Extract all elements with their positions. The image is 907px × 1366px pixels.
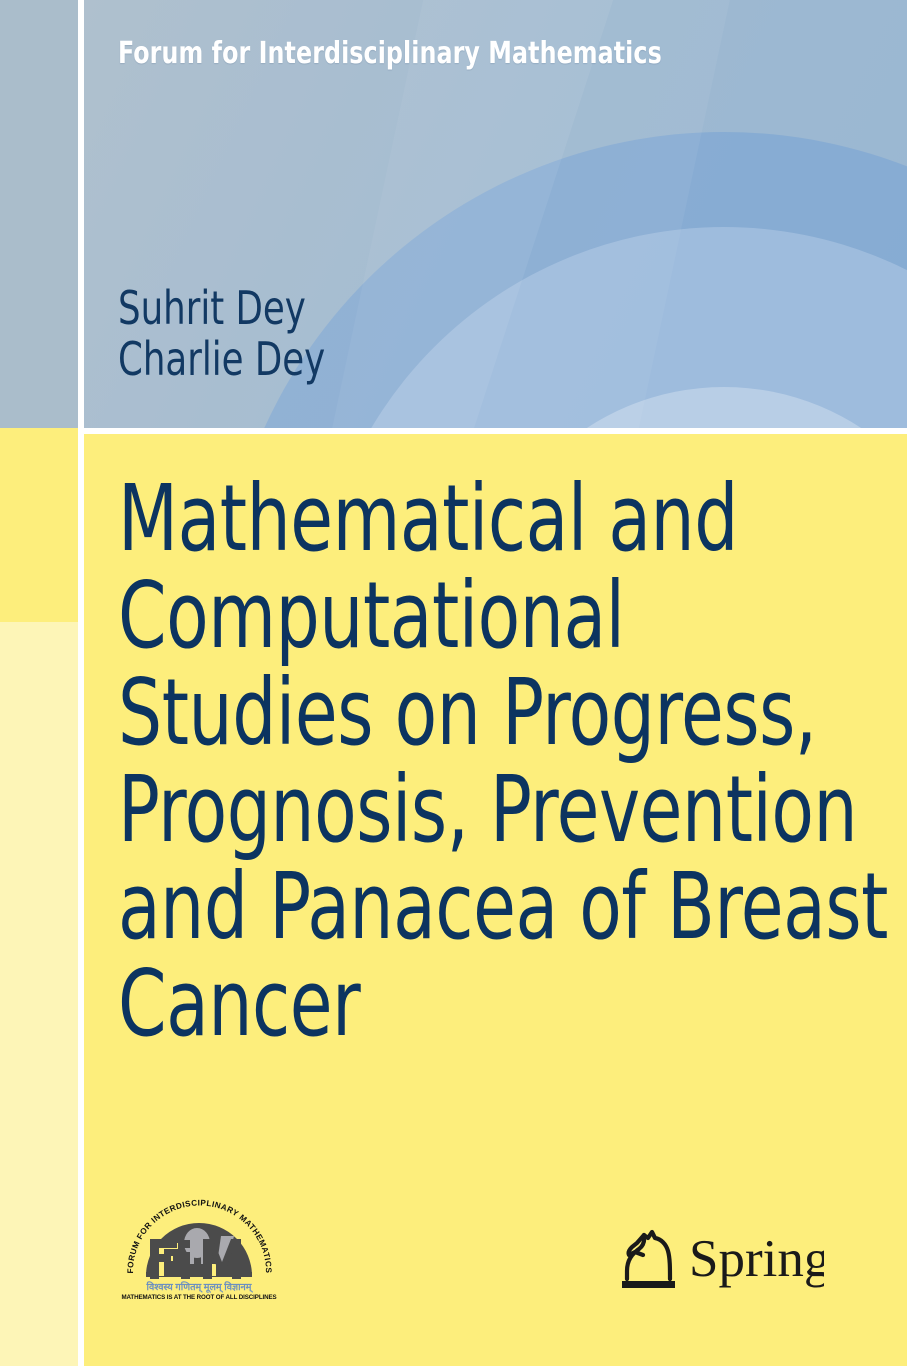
author-list: Suhrit Dey Charlie Dey [118,283,325,385]
left-band-blue-segment [0,0,78,428]
springer-wordmark: Springer [689,1230,824,1288]
left-band-yellow-segment [0,428,78,622]
left-spine-band [0,0,78,1366]
cover-main-panel: Forum for Interdisciplinary Mathematics … [84,0,907,1366]
fim-logo: FORUM FOR INTERDISCIPLINARY MATHEMATICS … [117,1196,282,1304]
left-band-pale-segment [0,622,78,1366]
book-title-line: Mathematical and [118,470,782,567]
author-name: Charlie Dey [118,334,325,385]
book-title: Mathematical and Computational Studies o… [118,470,782,1052]
book-title-line: Computational [118,567,782,664]
springer-logo: Springer [602,1222,824,1290]
book-title-line: Studies on Progress, [118,664,782,761]
knight-base-bar [622,1281,675,1288]
book-title-line: Cancer [118,955,782,1052]
knight-chess-piece-icon [627,1232,670,1279]
book-title-line: and Panacea of Breast [118,858,782,955]
book-title-line: Prognosis, Prevention [118,761,782,858]
header-blue-graphic: Forum for Interdisciplinary Mathematics … [84,0,907,428]
fim-sanskrit-text: विश्वस्य गणितम् मूलम् विज्ञानम् [145,1281,253,1293]
author-name: Suhrit Dey [118,283,325,334]
book-cover: Forum for Interdisciplinary Mathematics … [0,0,907,1366]
series-title: Forum for Interdisciplinary Mathematics [118,36,662,71]
fim-tagline: MATHEMATICS IS AT THE ROOT OF ALL DISCIP… [121,1294,276,1301]
